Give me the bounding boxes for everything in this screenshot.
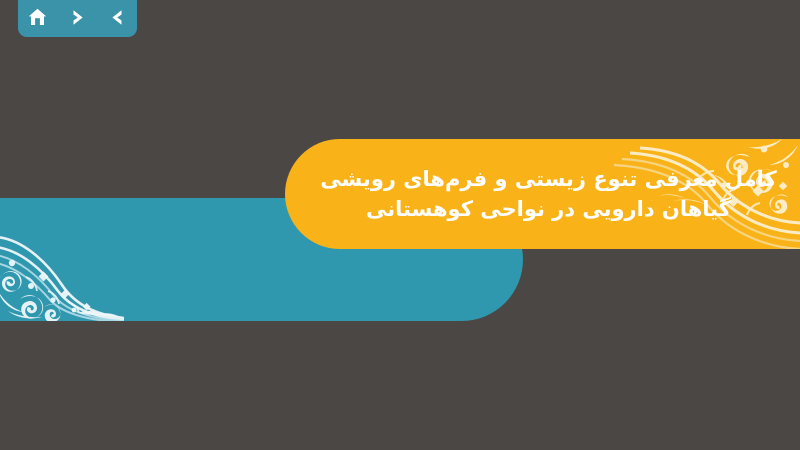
slide-canvas: کامل معرفی تنوع زیستی و فرم‌های رویشی گی… xyxy=(0,0,800,450)
triangle-right-icon xyxy=(69,9,86,26)
home-icon xyxy=(28,8,47,26)
arabesque-corner-ornament-teal xyxy=(0,203,124,321)
title-banner-panel: کامل معرفی تنوع زیستی و فرم‌های رویشی گی… xyxy=(285,139,800,249)
back-button[interactable] xyxy=(102,4,132,30)
forward-button[interactable] xyxy=(63,4,93,30)
arabesque-corner-ornament-yellow xyxy=(614,139,800,249)
browser-navigation-bar xyxy=(18,0,137,37)
home-button[interactable] xyxy=(23,4,53,30)
triangle-left-icon xyxy=(109,9,126,26)
